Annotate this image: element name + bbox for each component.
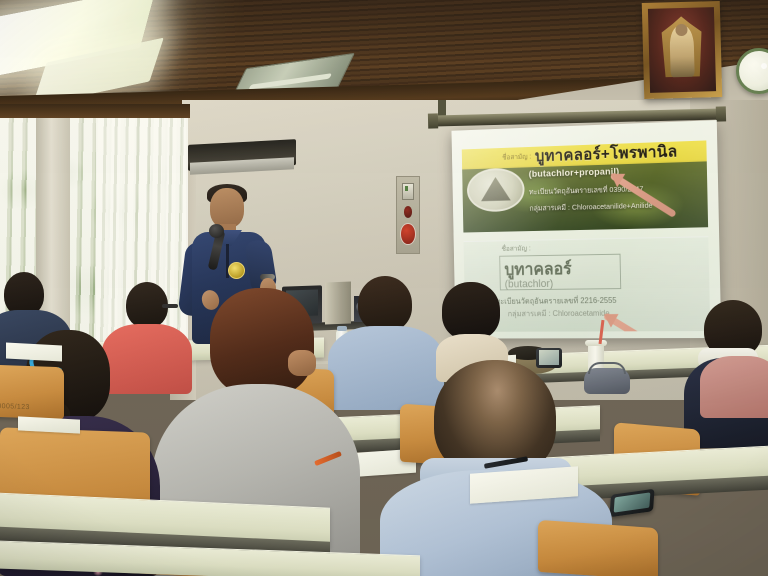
head xyxy=(442,282,500,340)
clock-glare xyxy=(761,63,767,69)
rail-endcap-left xyxy=(428,113,438,128)
cup-lid xyxy=(585,340,607,346)
seminar-room-photo: ชื่อสามัญ : บูทาคลอร์+โพรพานิล (butachlo… xyxy=(0,0,768,576)
screen-bracket xyxy=(438,100,446,116)
presenter-badge xyxy=(228,262,245,279)
slide-top-thai-name: บูทาคลอร์+โพรพานิล xyxy=(535,140,678,169)
window-header-beam xyxy=(0,104,190,118)
slide-top-title: ชื่อสามัญ : บูทาคลอร์+โพรพานิล xyxy=(502,141,704,169)
logo-mark xyxy=(481,177,511,202)
head xyxy=(210,288,314,396)
ear xyxy=(288,350,316,376)
head xyxy=(358,276,412,332)
handout-papers xyxy=(6,343,62,362)
indicator-light xyxy=(404,206,413,218)
slide-top: ชื่อสามัญ : บูทาคลอร์+โพรพานิล (butachlo… xyxy=(462,140,708,232)
slide-bottom-arrow-annotation xyxy=(603,312,666,332)
slide-bottom-prefix: ชื่อสามัญ : xyxy=(502,244,531,255)
figure-head xyxy=(675,24,687,36)
rail-endcap-right xyxy=(716,106,726,121)
slide-top-prefix: ชื่อสามัญ : xyxy=(502,152,531,164)
royal-portrait-image xyxy=(648,7,716,93)
chair-near-right[interactable] xyxy=(538,520,658,576)
wall-control-panel[interactable] xyxy=(396,176,420,254)
chair-far-left[interactable]: 0005/123 xyxy=(0,365,64,420)
presenter-head xyxy=(210,188,244,228)
royal-portrait-frame xyxy=(642,1,722,99)
microphone-head xyxy=(209,224,224,238)
slide-bottom-chemical-group: กลุ่มสารเคมี : Chloroacetamide xyxy=(508,307,610,320)
emergency-button[interactable] xyxy=(400,223,416,246)
attendee-pink-shirt-far-right xyxy=(700,346,768,416)
phone-screen xyxy=(613,492,651,513)
smartphone-on-desk[interactable] xyxy=(609,489,654,518)
torso xyxy=(700,356,768,418)
chair-inventory-id: 0005/123 xyxy=(0,403,30,411)
light-switch[interactable] xyxy=(402,183,414,200)
